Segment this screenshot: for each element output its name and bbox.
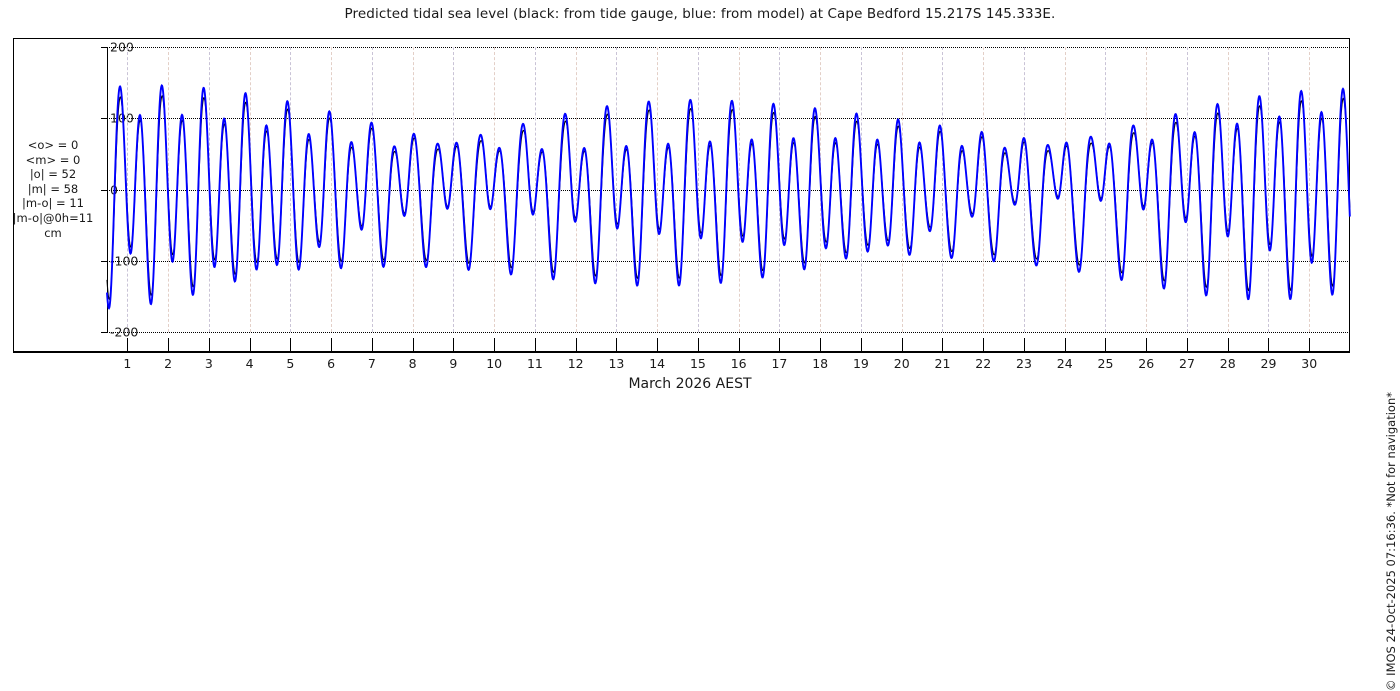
chart-title: Predicted tidal sea level (black: from t… xyxy=(0,6,1400,22)
x-axis-tick-label: 11 xyxy=(527,356,543,371)
x-axis-tick xyxy=(453,338,454,352)
x-axis-tick xyxy=(861,338,862,352)
x-axis-tick xyxy=(657,338,658,352)
credit-label: © IMOS 24-Oct-2025 07:16:36. *Not for na… xyxy=(1384,392,1398,691)
x-axis-tick xyxy=(1146,338,1147,352)
x-axis-tick xyxy=(1309,338,1310,352)
x-axis-tick xyxy=(494,338,495,352)
x-axis-tick xyxy=(820,338,821,352)
x-axis-tick-label: 29 xyxy=(1261,356,1277,371)
x-axis-tick xyxy=(1228,338,1229,352)
x-axis-tick xyxy=(942,338,943,352)
x-axis-tick-label: 30 xyxy=(1301,356,1317,371)
x-axis-tick-label: 8 xyxy=(409,356,417,371)
x-axis-tick-label: 7 xyxy=(368,356,376,371)
x-axis-tick-label: 2 xyxy=(164,356,172,371)
x-axis-tick-label: 22 xyxy=(975,356,991,371)
x-axis-tick xyxy=(576,338,577,352)
x-axis-tick xyxy=(1268,338,1269,352)
x-axis-tick xyxy=(1024,338,1025,352)
tide-series-plot xyxy=(107,47,1350,332)
x-axis-tick xyxy=(127,338,128,352)
x-axis-tick xyxy=(290,338,291,352)
x-axis-tick-label: 12 xyxy=(568,356,584,371)
x-axis-tick-label: 5 xyxy=(286,356,294,371)
x-axis-tick xyxy=(1187,338,1188,352)
x-axis-tick-label: 23 xyxy=(1016,356,1032,371)
x-axis-tick-label: 17 xyxy=(771,356,787,371)
x-axis-baseline xyxy=(13,352,1350,353)
x-axis-tick-label: 26 xyxy=(1138,356,1154,371)
x-axis-tick-label: 25 xyxy=(1098,356,1114,371)
x-axis-tick xyxy=(372,338,373,352)
x-axis-tick-label: 6 xyxy=(327,356,335,371)
x-axis-tick-label: 20 xyxy=(894,356,910,371)
x-axis-tick xyxy=(331,338,332,352)
x-axis-tick xyxy=(250,338,251,352)
x-axis-tick xyxy=(413,338,414,352)
x-axis-tick xyxy=(902,338,903,352)
x-axis-tick-label: 18 xyxy=(812,356,828,371)
x-axis-tick-label: 4 xyxy=(246,356,254,371)
x-axis-tick xyxy=(535,338,536,352)
plot-area xyxy=(107,47,1350,332)
x-axis-title-label: March 2026 AEST xyxy=(628,376,751,392)
x-axis-tick xyxy=(983,338,984,352)
x-axis-tick-label: 19 xyxy=(853,356,869,371)
x-axis-tick-label: 15 xyxy=(690,356,706,371)
x-axis-tick-label: 13 xyxy=(608,356,624,371)
x-axis-tick-label: 14 xyxy=(649,356,665,371)
x-axis-tick-label: 21 xyxy=(935,356,951,371)
x-axis-tick-label: 16 xyxy=(731,356,747,371)
x-axis-tick xyxy=(616,338,617,352)
x-axis-tick xyxy=(209,338,210,352)
x-axis-title: March 2026 AEST xyxy=(0,376,1400,392)
x-axis-tick-label: 3 xyxy=(205,356,213,371)
x-axis-tick-label: 9 xyxy=(449,356,457,371)
x-axis-tick xyxy=(1065,338,1066,352)
x-axis-tick-label: 1 xyxy=(123,356,131,371)
x-axis-tick-label: 10 xyxy=(486,356,502,371)
gridline-horizontal xyxy=(107,332,1350,333)
credit-text: © IMOS 24-Oct-2025 07:16:36. *Not for na… xyxy=(1380,0,1400,400)
x-axis-tick xyxy=(739,338,740,352)
x-axis-tick xyxy=(779,338,780,352)
x-axis-tick-label: 28 xyxy=(1220,356,1236,371)
x-axis-tick xyxy=(698,338,699,352)
statistics-annotation: <o> = 0 <m> = 0 |o| = 52 |m| = 58 |m-o| … xyxy=(0,138,106,240)
x-axis-tick-label: 27 xyxy=(1179,356,1195,371)
series-line-model xyxy=(107,86,1350,309)
x-axis-tick xyxy=(168,338,169,352)
x-axis-tick-label: 24 xyxy=(1057,356,1073,371)
x-axis-tick xyxy=(1105,338,1106,352)
